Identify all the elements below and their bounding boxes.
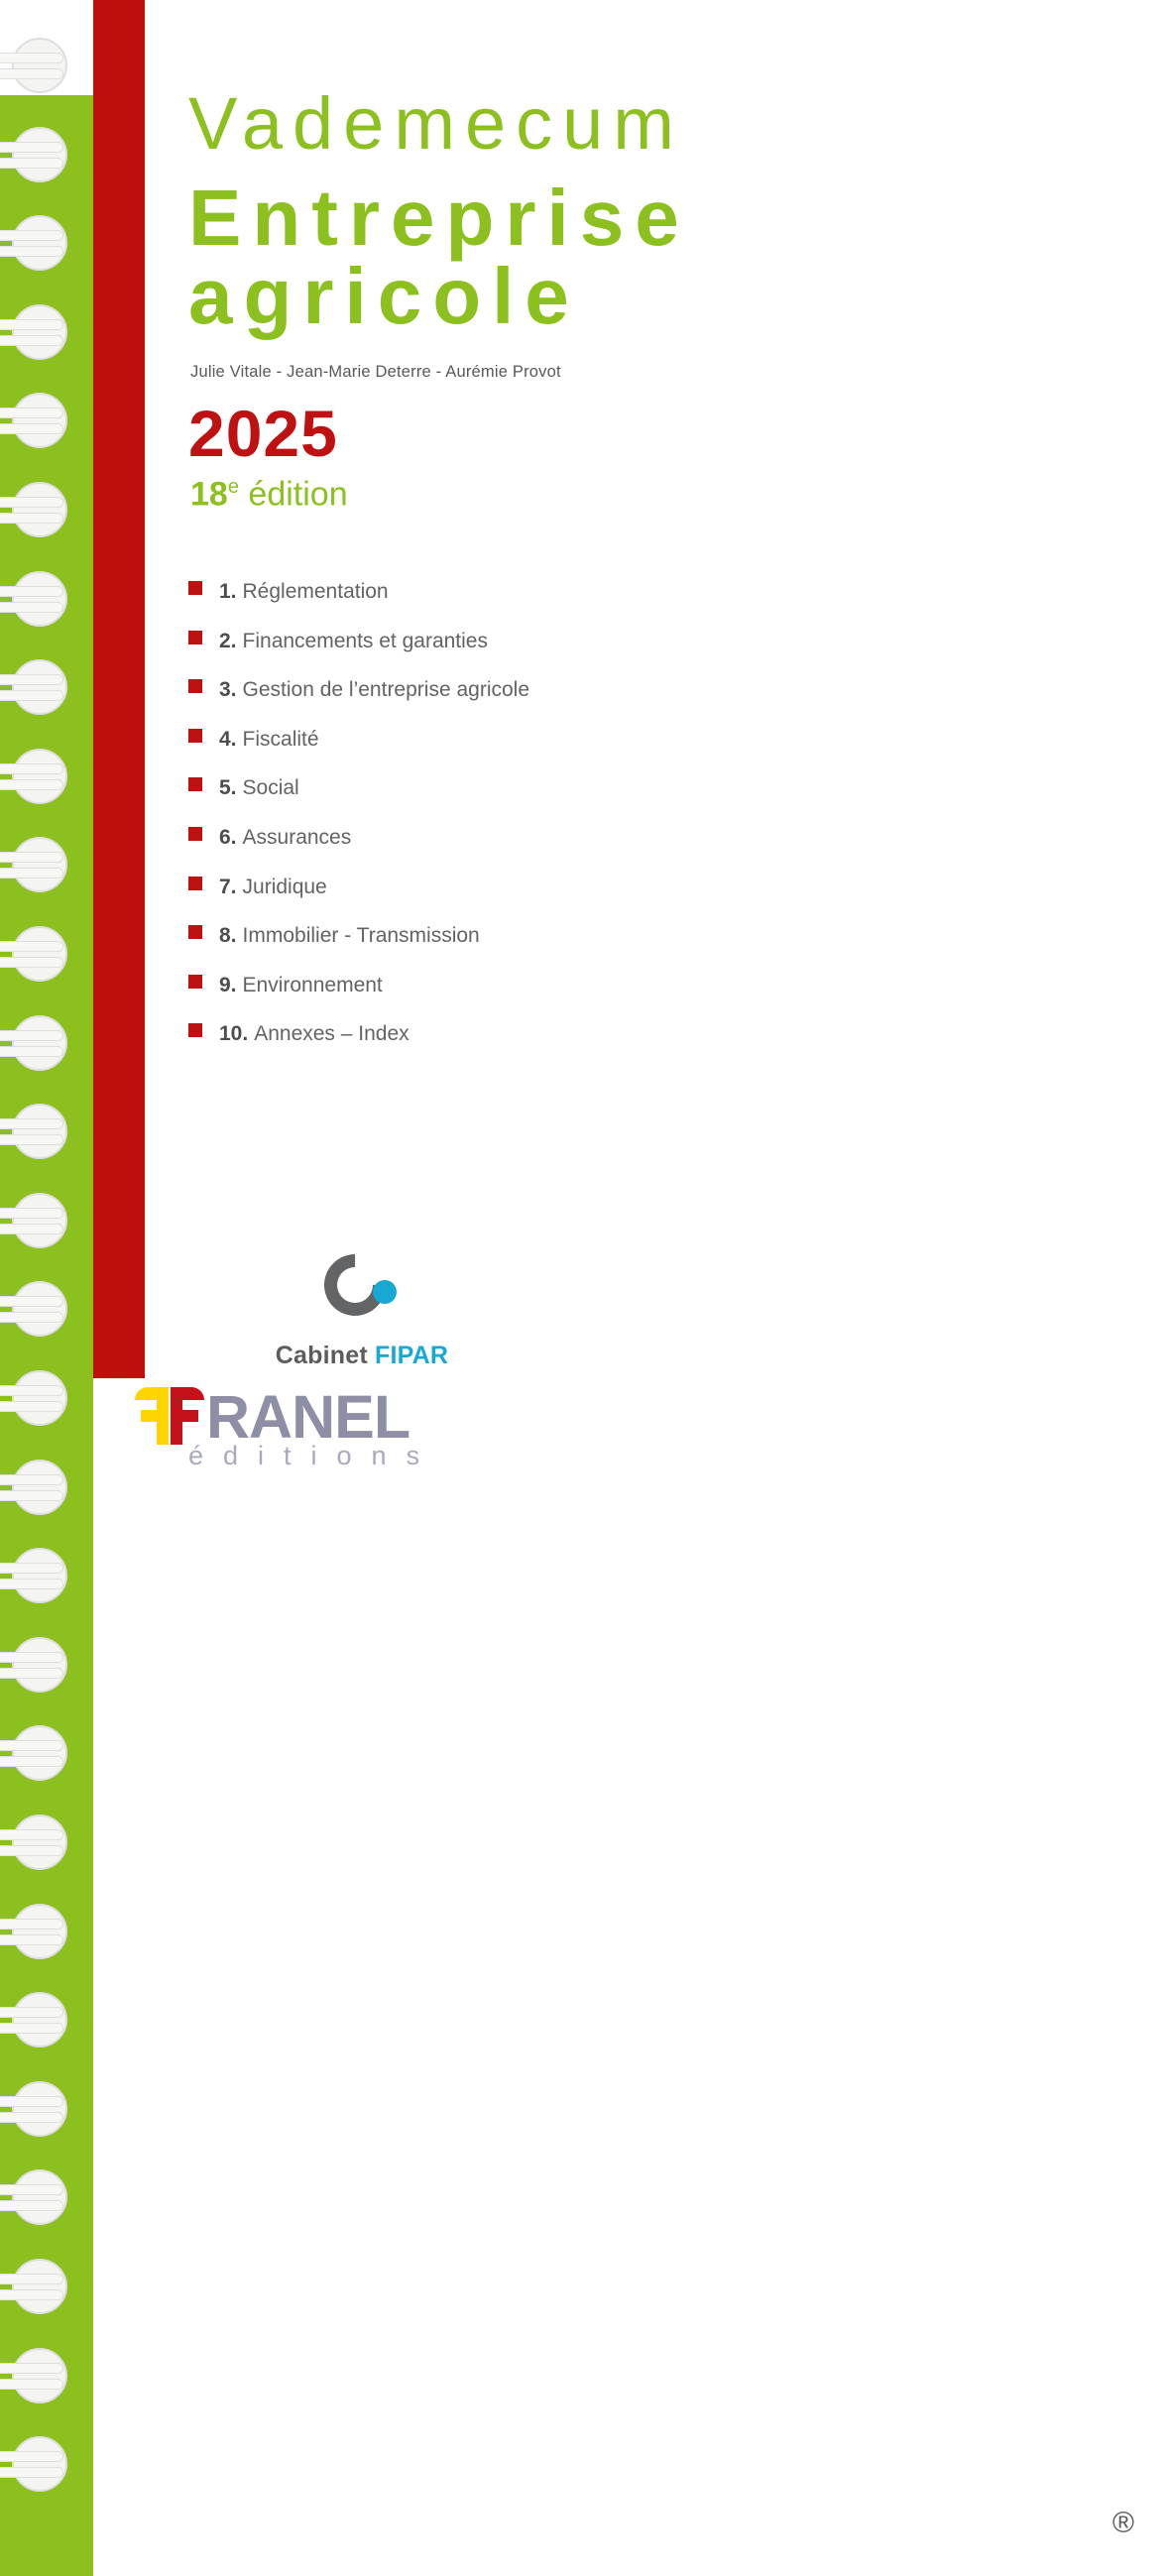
series-title: Vademecum [188, 87, 684, 161]
franel-wordmark: RANEL [135, 1383, 410, 1445]
chapter-bullet-icon [188, 777, 202, 791]
chapter-row[interactable]: 3.Gestion de l’entreprise agricole [188, 678, 823, 728]
chapter-title: Annexes – Index [254, 1022, 409, 1046]
edition-word: édition [248, 475, 347, 513]
registered-trademark-icon: ® [1112, 2509, 1134, 2538]
green-side-band [0, 95, 93, 2576]
chapter-row[interactable]: 9.Environnement [188, 974, 823, 1023]
chapter-title: Réglementation [243, 580, 389, 604]
page-title-line2: agricole [188, 257, 690, 335]
chapter-bullet-icon [188, 1023, 202, 1037]
chapter-number: 7. [219, 876, 237, 899]
chapter-title: Assurances [243, 826, 352, 850]
chapter-title: Juridique [243, 876, 327, 899]
chapter-number: 1. [219, 580, 237, 604]
chapter-bullet-icon [188, 925, 202, 939]
chapter-bullet-icon [188, 827, 202, 841]
franel-mirrored-f-icon [135, 1387, 169, 1445]
fipar-wordmark: Cabinet FIPAR [193, 1342, 530, 1370]
chapter-title: Social [243, 776, 299, 800]
chapter-bullet-icon [188, 679, 202, 693]
page-title: Entreprise agricole [188, 178, 690, 335]
chapter-bullet-icon [188, 631, 202, 644]
chapter-number: 2. [219, 630, 237, 653]
chapter-number: 8. [219, 924, 237, 948]
edition-number: 18 [190, 475, 228, 513]
franel-red-f-icon [171, 1387, 204, 1445]
franel-editions-logo: RANEL éditions [135, 1383, 551, 1492]
chapter-title: Environnement [243, 974, 383, 997]
franel-editions-text: éditions [188, 1441, 439, 1471]
chapter-number: 6. [219, 826, 237, 850]
chapter-row[interactable]: 8.Immobilier - Transmission [188, 924, 823, 974]
authors-line: Julie Vitale - Jean-Marie Deterre - Auré… [190, 363, 561, 382]
spiral-binding-column [0, 0, 93, 2576]
chapter-title: Financements et garanties [243, 630, 488, 653]
chapter-number: 5. [219, 776, 237, 800]
chapter-row[interactable]: 1.Réglementation [188, 580, 823, 630]
chapter-bullet-icon [188, 975, 202, 989]
chapter-title: Gestion de l’entreprise agricole [243, 678, 530, 702]
chapter-title: Immobilier - Transmission [243, 924, 480, 948]
spiral-ring-bar-top [0, 53, 63, 63]
chapter-row[interactable]: 6.Assurances [188, 826, 823, 876]
chapter-bullet-icon [188, 581, 202, 595]
fipar-word-cabinet: Cabinet [276, 1342, 368, 1369]
chapter-bullet-icon [188, 729, 202, 743]
year-label: 2025 [188, 401, 338, 466]
cabinet-fipar-logo: Cabinet FIPAR [193, 1254, 530, 1370]
fipar-word-fipar: FIPAR [375, 1342, 448, 1369]
chapter-bullet-icon [188, 877, 202, 890]
spiral-ring [0, 38, 93, 93]
edition-ordinal: e [228, 476, 239, 498]
chapter-row[interactable]: 5.Social [188, 776, 823, 826]
chapter-number: 10. [219, 1022, 248, 1046]
chapter-row[interactable]: 7.Juridique [188, 876, 823, 925]
chapter-number: 9. [219, 974, 237, 997]
franel-name-text: RANEL [206, 1389, 410, 1445]
chapter-row[interactable]: 2.Financements et garanties [188, 630, 823, 679]
fipar-dot-icon [373, 1280, 397, 1304]
franel-yellow-stem [157, 1387, 169, 1445]
chapter-row[interactable]: 10.Annexes – Index [188, 1022, 823, 1072]
chapter-number: 4. [219, 728, 237, 752]
red-vertical-bar [93, 0, 145, 1378]
chapter-title: Fiscalité [243, 728, 319, 752]
spiral-ring-circle [12, 38, 67, 93]
chapter-list: 1.Réglementation2.Financements et garant… [188, 580, 823, 1072]
cover-content: Vademecum Entreprise agricole Julie Vita… [188, 0, 1081, 2576]
spiral-ring-bar-bottom [0, 68, 63, 79]
chapter-number: 3. [219, 678, 237, 702]
franel-red-stem [171, 1387, 182, 1445]
chapter-row[interactable]: 4.Fiscalité [188, 728, 823, 777]
page-title-line1: Entreprise [188, 174, 690, 262]
fipar-c-icon [324, 1254, 400, 1330]
edition-label: 18e édition [190, 477, 348, 511]
